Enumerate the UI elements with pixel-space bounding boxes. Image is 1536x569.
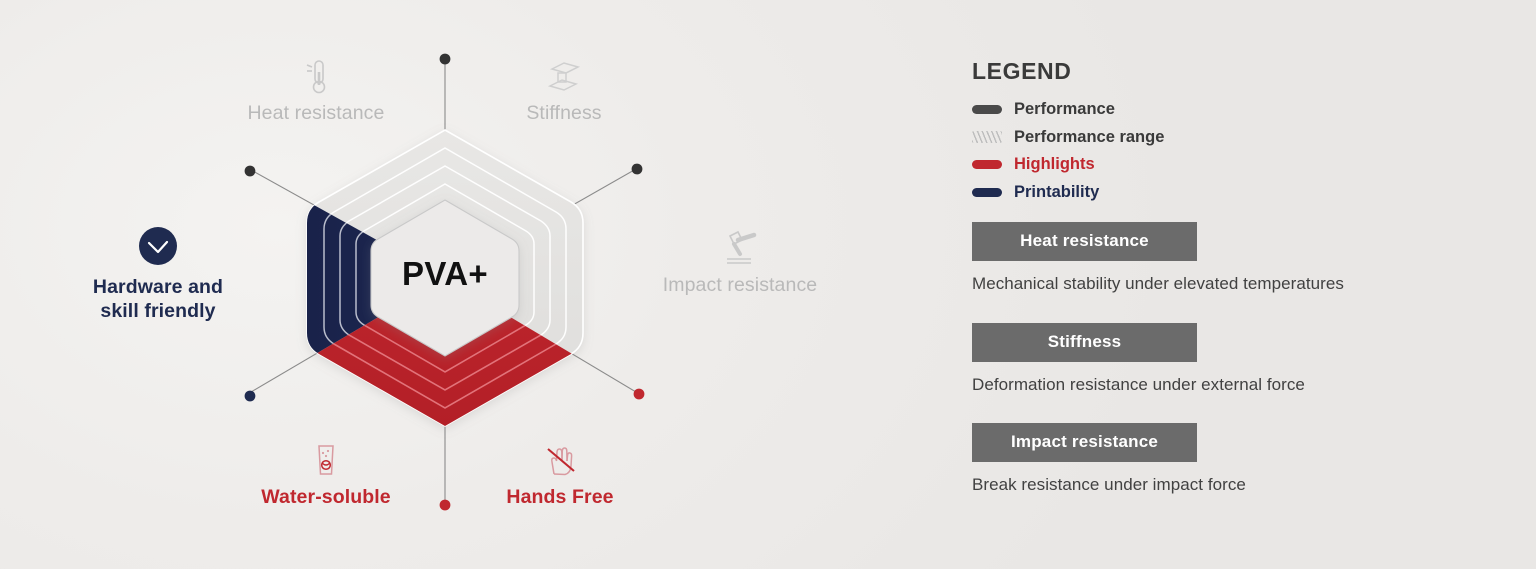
property-chip[interactable]: Heat resistance <box>972 222 1197 261</box>
axis-label-text: Water-soluble <box>232 486 420 509</box>
legend-label: Printability <box>1014 183 1099 202</box>
axis-label-impact-resistance[interactable]: Impact resistance <box>632 228 848 297</box>
node-dot-water-soluble <box>440 500 451 511</box>
property-description: Mechanical stability under elevated temp… <box>972 274 1442 294</box>
legend-list: Performance Performance range Highlights… <box>972 96 1392 206</box>
axis-label-text-line2: skill friendly <box>58 300 258 324</box>
node-dot-hands-free <box>634 389 645 400</box>
infographic-stage: PVA+ Heat resistance <box>0 0 1536 569</box>
property-description: Break resistance under impact force <box>972 475 1442 495</box>
pva-hex-radar-diagram: PVA+ Heat resistance <box>0 0 940 569</box>
property-description: Deformation resistance under external fo… <box>972 375 1442 395</box>
legend-label: Performance range <box>1014 128 1164 147</box>
check-circle-icon <box>58 226 258 272</box>
no-hands-icon <box>462 440 658 482</box>
axis-label-hardware-skill-friendly[interactable]: Hardware and skill friendly <box>58 226 258 324</box>
legend-swatch-highlights <box>972 160 1002 169</box>
legend-item-performance-range[interactable]: Performance range <box>972 124 1392 152</box>
axis-label-stiffness[interactable]: Stiffness <box>461 56 667 125</box>
legend-item-printability[interactable]: Printability <box>972 179 1392 207</box>
axis-label-text-line1: Hardware and <box>58 276 258 300</box>
axis-label-text: Stiffness <box>461 102 667 125</box>
legend-item-performance[interactable]: Performance <box>972 96 1392 124</box>
node-dot-hardware <box>245 391 256 402</box>
axis-label-text: Impact resistance <box>632 274 848 297</box>
property-card-heat-resistance: Heat resistance Mechanical stability und… <box>972 222 1442 294</box>
axis-label-text: Heat resistance <box>203 102 429 125</box>
legend-label: Performance <box>1014 100 1115 119</box>
property-card-stiffness: Stiffness Deformation resistance under e… <box>972 323 1442 395</box>
axis-label-heat-resistance[interactable]: Heat resistance <box>203 56 429 125</box>
node-dot-stiffness <box>632 164 643 175</box>
ibeam-icon <box>461 56 667 98</box>
axis-label-text: Hands Free <box>462 486 658 509</box>
hammer-icon <box>632 228 848 270</box>
property-card-impact-resistance: Impact resistance Break resistance under… <box>972 423 1442 495</box>
property-chip[interactable]: Impact resistance <box>972 423 1197 462</box>
axis-label-water-soluble[interactable]: Water-soluble <box>232 440 420 509</box>
legend-and-cards-panel: LEGEND Performance Performance range Hig… <box>972 0 1536 569</box>
node-dot-impact <box>245 166 256 177</box>
legend-swatch-performance-range <box>972 131 1002 143</box>
legend-title: LEGEND <box>972 58 1071 85</box>
property-cards: Heat resistance Mechanical stability und… <box>972 222 1442 524</box>
axis-label-hands-free[interactable]: Hands Free <box>462 440 658 509</box>
node-dot-heat-top <box>440 54 451 65</box>
dissolving-glass-icon <box>232 440 420 482</box>
legend-item-highlights[interactable]: Highlights <box>972 151 1392 179</box>
legend-label: Highlights <box>1014 155 1095 174</box>
legend-swatch-performance <box>972 105 1002 114</box>
thermometer-icon <box>203 56 429 98</box>
legend-swatch-printability <box>972 188 1002 197</box>
property-chip[interactable]: Stiffness <box>972 323 1197 362</box>
